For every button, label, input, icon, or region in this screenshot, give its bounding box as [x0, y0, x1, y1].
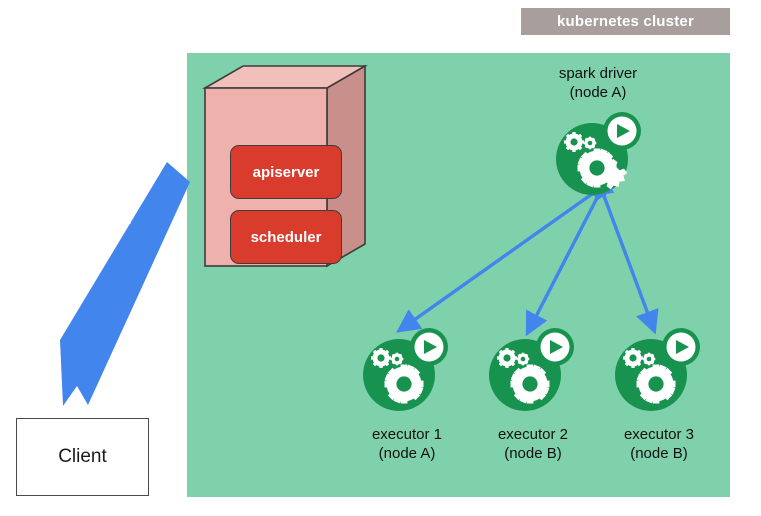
scheduler-label: scheduler [251, 229, 322, 246]
gears-play-icon [485, 328, 581, 414]
client-box[interactable]: Client [16, 418, 149, 496]
executor-3-icon[interactable] [611, 328, 707, 414]
scheduler-component[interactable]: scheduler [230, 210, 342, 264]
gears-play-icon [359, 328, 455, 414]
diagram-canvas: kubernetes cluster apiserver scheduler s… [0, 0, 761, 516]
kubernetes-cluster-badge-label: kubernetes cluster [557, 13, 694, 30]
executor-3-label: executor 3 (node B) [584, 425, 734, 463]
kubernetes-control-plane-box: apiserver scheduler [205, 66, 365, 276]
spark-submit-arrow [55, 160, 220, 420]
spark-driver-label: spark driver (node A) [523, 64, 673, 102]
apiserver-component[interactable]: apiserver [230, 145, 342, 199]
client-label: Client [58, 446, 107, 468]
kubernetes-cluster-badge: kubernetes cluster [521, 8, 730, 35]
spark-submit-arrow-shape [55, 160, 220, 420]
gears-play-icon [611, 328, 707, 414]
spark-driver-icon[interactable] [552, 112, 648, 198]
executor-1-icon[interactable] [359, 328, 455, 414]
apiserver-label: apiserver [253, 164, 320, 181]
executor-2-icon[interactable] [485, 328, 581, 414]
gears-play-icon [552, 112, 648, 198]
